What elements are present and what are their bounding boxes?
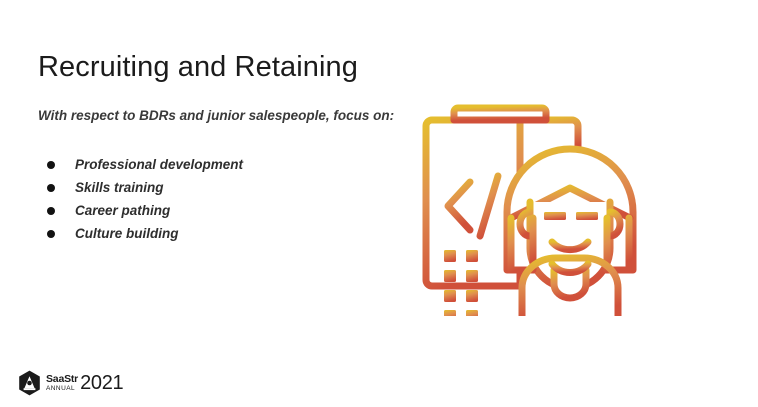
slide-footer: SaaStr ANNUAL 2021 — [0, 362, 758, 407]
bullet-dot-icon — [47, 184, 55, 192]
list-item-label: Culture building — [75, 226, 179, 241]
saastr-wordmark: SaaStr ANNUAL — [46, 372, 78, 394]
list-item: Culture building — [40, 222, 243, 245]
code-slash-icon — [480, 176, 498, 236]
presentation-slide: Recruiting and Retaining With respect to… — [0, 0, 758, 407]
list-item: Professional development — [40, 153, 243, 176]
saastr-hexagon-icon — [18, 370, 41, 396]
list-item-label: Professional development — [75, 157, 243, 172]
bullet-dot-icon — [47, 161, 55, 169]
focus-area-list: Professional development Skills training… — [40, 153, 243, 245]
logo-year-text: 2021 — [80, 373, 123, 393]
logo-event-text: ANNUAL — [46, 386, 78, 393]
female-developer-illustration — [418, 84, 680, 316]
list-item: Career pathing — [40, 199, 243, 222]
bullet-dot-icon — [47, 230, 55, 238]
code-angle-left-icon — [448, 182, 470, 230]
saastr-logo: SaaStr ANNUAL 2021 — [18, 370, 123, 396]
list-item: Skills training — [40, 176, 243, 199]
illustration-svg — [418, 84, 680, 316]
list-item-label: Career pathing — [75, 203, 170, 218]
list-item-label: Skills training — [75, 180, 164, 195]
slide-subtitle: With respect to BDRs and junior salespeo… — [38, 104, 398, 128]
page-title: Recruiting and Retaining — [38, 49, 358, 85]
bullet-dot-icon — [47, 207, 55, 215]
logo-brand-text: SaaStr — [46, 374, 78, 385]
